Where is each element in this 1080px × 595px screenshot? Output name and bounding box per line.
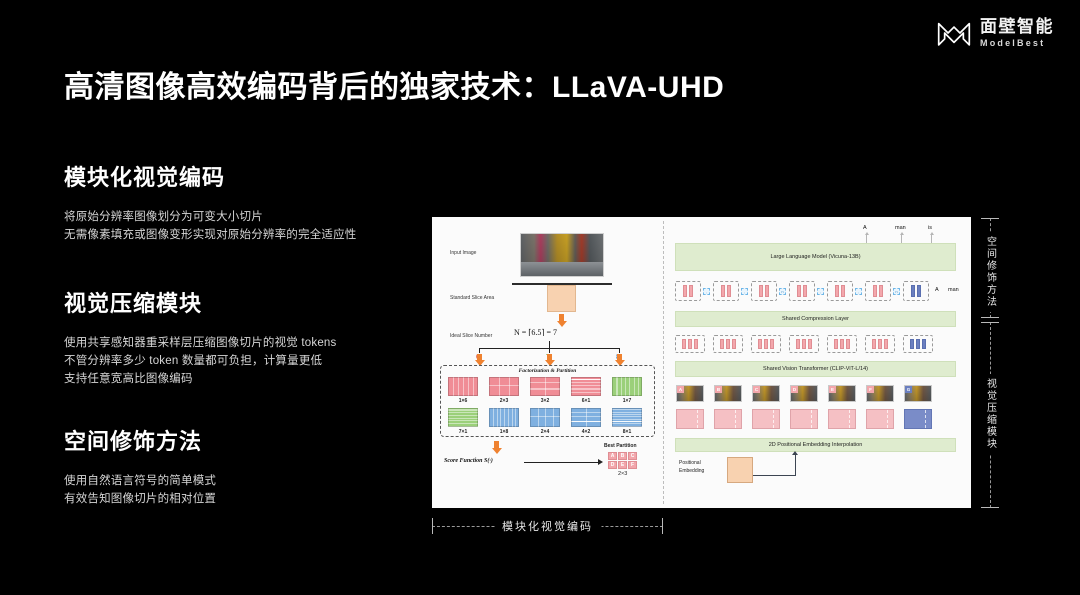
section-line: 无需像素填充或图像变形实现对原始分辨率的完全适应性 [64,226,414,244]
token [872,339,876,349]
partition-tile [612,377,642,396]
image-slice: A [676,385,704,402]
branch-connector [549,348,550,353]
token [846,339,850,349]
token [840,339,844,349]
separator-token: , [703,288,710,295]
token [835,285,839,297]
positional-embedding-label: Positional [679,460,701,467]
partition-tile [448,408,478,427]
output-word: A [863,225,867,231]
image-slice: B [714,385,742,402]
token [834,339,838,349]
arrow-icon [901,234,902,243]
slice-tag: C [753,386,760,393]
pe-connector-arrow [792,451,798,455]
slice-tag: F [867,386,874,393]
token [720,339,724,349]
ideal-slice-number-label: Ideal Slice Number [450,333,492,339]
token [884,339,888,349]
bracket-label: 模块化视觉编码 [494,518,601,534]
compression-band: Shared Compression Layer [675,311,956,327]
token [879,285,883,297]
section-heading: 视觉压缩模块 [64,286,414,318]
token [916,339,920,349]
llm-band: Large Language Model (Vicuna-13B) [675,243,956,271]
separator-token: n [893,288,900,295]
output-word: man [895,225,906,231]
section-line: 将原始分辨率图像划分为可变大小切片 [64,208,414,226]
arrow-icon [866,234,867,243]
partition-tile [571,408,601,427]
partition-tile [489,408,519,427]
pe-box [828,409,856,429]
best-partition-caption: 2×3 [618,471,627,477]
partition-label: 3×2 [530,398,560,404]
token [727,285,731,297]
token [732,339,736,349]
separator-token: , [741,288,748,295]
standard-slice-area-box [547,285,576,312]
ideal-slice-formula: N = ⌈6.5⌉ = 7 [514,328,557,337]
slice-tag: E [829,386,836,393]
token-group [713,281,739,301]
slice-tag: B [715,386,722,393]
section-line: 不管分辨率多少 token 数量都可负担，计算量更低 [64,352,414,370]
token [759,285,763,297]
pe-box [866,409,894,429]
token [689,285,693,297]
section-heading: 模块化视觉编码 [64,160,414,192]
token [917,285,921,297]
section-line: 使用自然语言符号的简单模式 [64,472,414,490]
modelbest-logo-icon [937,18,971,48]
partition-label: 2×4 [530,429,560,435]
partition-tile [530,408,560,427]
brand-name-en: ModelBest [980,39,1045,48]
section-body: 使用共享感知器重采样层压缩图像切片的视觉 tokens 不管分辨率多少 toke… [64,334,414,388]
partition-tile [489,377,519,396]
bracket-spatial-schema: 空间修饰方法 [981,218,999,318]
token-group [675,335,705,353]
token [682,339,686,349]
section-line: 使用共享感知器重采样层压缩图像切片的视觉 tokens [64,334,414,352]
best-partition-cell: C [628,452,637,460]
branch-connector [549,341,550,348]
token-group-overview [903,281,929,301]
page-title: 高清图像高效编码背后的独家技术：LLaVA-UHD [64,62,724,106]
image-slice: E [828,385,856,402]
input-word: A [935,287,939,293]
brand-name-cn: 面壁智能 [980,18,1054,35]
section-line: 有效告知图像切片的相对位置 [64,490,414,508]
token [764,339,768,349]
positional-embedding-box [727,457,753,483]
partition-label: 1×6 [448,398,478,404]
section-body: 使用自然语言符号的简单模式 有效告知图像切片的相对位置 [64,472,414,508]
token-group [675,281,701,301]
score-function-label: Score Function S(·) [444,458,493,464]
arrow-icon [931,234,932,243]
input-word: man [948,287,959,293]
slice-tag: G [905,386,912,393]
best-partition-cell: A [608,452,617,460]
token-group [827,281,853,301]
positional-embedding-band: 2D Positional Embedding Interpolation [675,438,956,452]
branch-connector [619,348,620,353]
section-line: 支持任意宽高比图像编码 [64,370,414,388]
token [808,339,812,349]
partition-label: 8×1 [612,429,642,435]
token-group [751,335,781,353]
standard-slice-area-label: Standard Slice Area [450,295,494,301]
bracket-cap [981,317,999,318]
partition-tile [530,377,560,396]
token [911,285,915,297]
architecture-figure: Input Image Standard Slice Area Ideal Sl… [432,217,971,508]
token-group [751,281,777,301]
bracket-cap [662,518,663,534]
token [688,339,692,349]
token [922,339,926,349]
slice-tag: D [791,386,798,393]
pe-box [752,409,780,429]
section-heading: 空间修饰方法 [64,424,414,456]
token [765,285,769,297]
partition-label: 1×7 [612,398,642,404]
image-slice: D [790,385,818,402]
input-image-label: Input Image [450,250,476,256]
bracket-label: 空间修饰方法 [983,232,998,312]
token [796,339,800,349]
output-word: is [928,225,932,231]
token-group [865,335,895,353]
token [770,339,774,349]
token [841,285,845,297]
token [758,339,762,349]
separator-token: n [779,288,786,295]
arrow-icon [557,321,567,327]
image-slice: C [752,385,780,402]
score-arrow [524,462,599,463]
pe-box [714,409,742,429]
partition-label: 1×8 [489,429,519,435]
partition-label: 6×1 [571,398,601,404]
token [910,339,914,349]
branch-connector [479,348,480,353]
token [721,285,725,297]
feature-section-visual-compression: 视觉压缩模块 使用共享感知器重采样层压缩图像切片的视觉 tokens 不管分辨率… [64,286,414,388]
figure-right-panel: A man is Large Language Model (Vicuna-13… [663,217,971,508]
factorization-title: Factorization & Partition [441,368,654,374]
bracket-cap [981,507,999,508]
bracket-label: 视觉压缩模块 [983,374,998,454]
partition-tile [571,377,601,396]
feature-section-modular-encoding: 模块化视觉编码 将原始分辨率图像划分为可变大小切片 无需像素填充或图像变形实现对… [64,160,414,244]
token [873,285,877,297]
figure-left-panel: Input Image Standard Slice Area Ideal Sl… [432,217,663,508]
vit-band: Shared Vision Transformer (CLIP-ViT-L/14… [675,361,956,377]
bracket-cap [981,322,999,323]
arrow-icon [492,448,502,454]
partition-label: 7×1 [448,429,478,435]
slice-tag: A [677,386,684,393]
token-group [865,281,891,301]
bracket-cap [432,518,433,534]
token-group-overview [903,335,933,353]
feature-list: 模块化视觉编码 将原始分辨率图像划分为可变大小切片 无需像素填充或图像变形实现对… [64,160,414,536]
token-group [827,335,857,353]
positional-embedding-label: Embedding [679,468,704,475]
score-arrow-head [598,459,603,465]
token [878,339,882,349]
section-body: 将原始分辨率图像划分为可变大小切片 无需像素填充或图像变形实现对原始分辨率的完全… [64,208,414,244]
pe-box-overview [904,409,932,429]
best-partition-grid: A B C D E F [608,452,637,469]
best-partition-title: Best Partition [604,443,637,449]
partition-label: 2×3 [489,398,519,404]
pe-connector [795,455,796,475]
input-image-thumbnail [520,233,604,277]
pe-connector [753,475,796,476]
bracket-visual-compression: 视觉压缩模块 [981,322,999,508]
pe-box [676,409,704,429]
token-group [789,281,815,301]
token [683,285,687,297]
partition-tile [448,377,478,396]
pe-box [790,409,818,429]
token-group [713,335,743,353]
best-partition-cell: B [618,452,627,460]
best-partition-cell: F [628,461,637,469]
token [797,285,801,297]
partition-label: 4×2 [571,429,601,435]
brand-logo: 面壁智能 ModelBest [937,18,1054,48]
token [694,339,698,349]
best-partition-cell: E [618,461,627,469]
partition-tile [612,408,642,427]
token-group [789,335,819,353]
separator-token: , [817,288,824,295]
image-slice-overview: G [904,385,932,402]
feature-section-spatial-schema: 空间修饰方法 使用自然语言符号的简单模式 有效告知图像切片的相对位置 [64,424,414,508]
best-partition-cell: D [608,461,617,469]
separator-token: , [855,288,862,295]
image-slice: F [866,385,894,402]
token [726,339,730,349]
bracket-cap [981,218,999,219]
token [803,285,807,297]
bracket-modular-encoding: 模块化视觉编码 [432,518,663,534]
token [802,339,806,349]
